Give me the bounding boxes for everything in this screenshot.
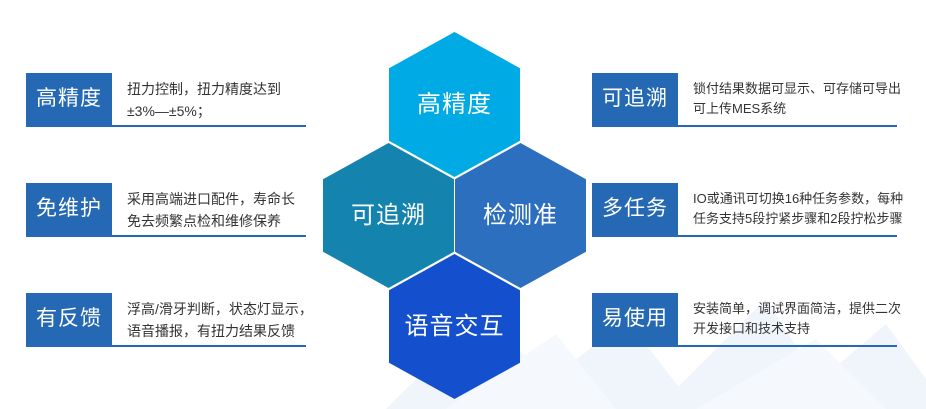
feature-badge: 高精度: [26, 73, 112, 125]
hexagon-label: 可追溯: [351, 204, 426, 228]
feature-description-line: 可上传MES系统: [693, 99, 901, 119]
feature-divider: [592, 345, 897, 347]
hexagon-label: 检测准: [483, 204, 558, 228]
feature-description-line: 任务支持5段拧紧步骤和2段拧松步骤: [693, 209, 903, 229]
feature-divider: [26, 125, 306, 127]
hexagon-cluster: 高精度 可追溯 检测准 语音交互: [318, 26, 528, 388]
hexagon-label: 高精度: [417, 93, 492, 117]
feature-description: 浮高/滑牙判断，状态灯显示， 语音播报，有扭力结果反馈: [112, 293, 313, 342]
feature-divider: [592, 125, 897, 127]
feature-description-line: IO或通讯可切换16种任务参数，每种: [693, 189, 903, 209]
feature-description-line: ±3%—±5%；: [127, 101, 306, 123]
feature-description-line: 扭力控制，扭力精度达到: [127, 79, 306, 101]
feature-badge: 可追溯: [592, 73, 678, 125]
feature-description: 锁付结果数据可显示、可存储可导出 可上传MES系统: [678, 73, 901, 119]
hexagon-label: 语音交互: [405, 315, 505, 339]
feature-item-multi-task: 多任务 IO或通讯可切换16种任务参数，每种 任务支持5段拧紧步骤和2段拧松步骤: [592, 183, 897, 235]
feature-description: 采用高端进口配件，寿命长 免去频繁点检和维修保养: [112, 183, 306, 232]
feature-item-feedback: 有反馈 浮高/滑牙判断，状态灯显示， 语音播报，有扭力结果反馈: [26, 293, 306, 345]
feature-badge: 易使用: [592, 293, 678, 345]
feature-divider: [26, 345, 306, 347]
feature-description: 安装简单，调试界面简洁，提供二次 开发接口和技术支持: [678, 293, 901, 339]
feature-item-high-precision: 高精度 扭力控制，扭力精度达到 ±3%—±5%；: [26, 73, 306, 125]
feature-divider: [26, 235, 306, 237]
feature-description: 扭力控制，扭力精度达到 ±3%—±5%；: [112, 73, 306, 122]
feature-badge: 免维护: [26, 183, 112, 235]
feature-badge: 多任务: [592, 183, 678, 235]
feature-divider: [592, 235, 897, 237]
feature-item-easy-to-use: 易使用 安装简单，调试界面简洁，提供二次 开发接口和技术支持: [592, 293, 897, 345]
feature-description-line: 采用高端进口配件，寿命长: [127, 189, 306, 211]
feature-description-line: 免去频繁点检和维修保养: [127, 211, 306, 233]
feature-badge: 有反馈: [26, 293, 112, 345]
feature-description-line: 开发接口和技术支持: [693, 319, 901, 339]
infographic-canvas: 高精度 可追溯 检测准 语音交互 高精度 扭力控制，扭力精度达到 ±3%—±5%…: [0, 0, 926, 409]
feature-description: IO或通讯可切换16种任务参数，每种 任务支持5段拧紧步骤和2段拧松步骤: [678, 183, 903, 229]
feature-description-line: 语音播报，有扭力结果反馈: [127, 321, 313, 343]
feature-description-line: 安装简单，调试界面简洁，提供二次: [693, 299, 901, 319]
feature-description-line: 浮高/滑牙判断，状态灯显示，: [127, 299, 313, 321]
feature-item-traceable: 可追溯 锁付结果数据可显示、可存储可导出 可上传MES系统: [592, 73, 897, 125]
feature-description-line: 锁付结果数据可显示、可存储可导出: [693, 79, 901, 99]
feature-item-maintenance-free: 免维护 采用高端进口配件，寿命长 免去频繁点检和维修保养: [26, 183, 306, 235]
